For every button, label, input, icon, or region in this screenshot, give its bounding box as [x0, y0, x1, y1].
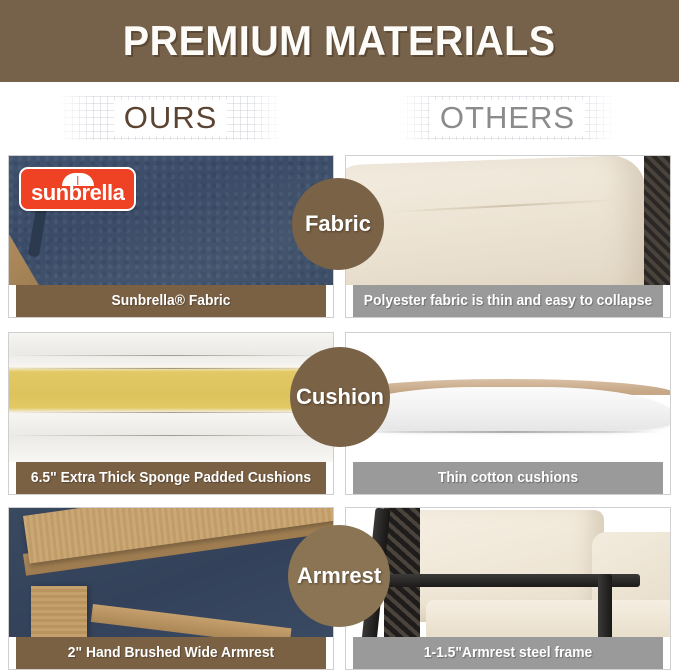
photo-sponge-cushion	[9, 333, 333, 462]
page-title: PREMIUM MATERIALS	[123, 17, 556, 65]
panel-others-cushion: Thin cotton cushions	[345, 332, 671, 495]
fiber-line	[9, 435, 333, 437]
photo-polyester-fabric	[346, 156, 670, 285]
steel-frame-art	[346, 508, 670, 637]
foam-cross-section	[9, 333, 333, 462]
armrest-post	[31, 586, 87, 637]
photo-wood-armrest	[9, 508, 333, 637]
panel-others-armrest: 1-1.5"Armrest steel frame	[345, 507, 671, 670]
column-header-others: OTHERS	[400, 96, 615, 140]
navy-fabric-texture: sunbrella	[9, 156, 333, 285]
caption-others-armrest: 1-1.5"Armrest steel frame	[353, 637, 663, 669]
badge-fabric: Fabric	[292, 178, 384, 270]
cushion-shape	[346, 156, 650, 285]
wood-brace	[91, 604, 292, 637]
header-bar: PREMIUM MATERIALS	[0, 0, 679, 82]
cushion-slab	[346, 387, 670, 431]
wicker-edge	[644, 156, 670, 285]
cushion-shadow-line	[352, 431, 663, 433]
umbrella-icon	[62, 173, 94, 186]
fiber-line	[9, 412, 333, 414]
caption-ours-cushion: 6.5" Extra Thick Sponge Padded Cushions	[16, 462, 326, 494]
caption-ours-fabric: Sunbrella® Fabric	[16, 285, 326, 317]
panel-ours-cushion: 6.5" Extra Thick Sponge Padded Cushions	[8, 332, 334, 495]
seat-cushion	[426, 600, 670, 637]
column-header-others-label: OTHERS	[430, 100, 585, 136]
column-header-ours-label: OURS	[114, 100, 228, 136]
polyester-cushion-art	[346, 156, 670, 285]
caption-others-fabric: Polyester fabric is thin and easy to col…	[353, 285, 663, 317]
column-labels: OURS OTHERS	[0, 82, 679, 154]
column-header-ours: OURS	[58, 96, 283, 140]
thin-cushion-art	[346, 333, 670, 462]
panel-ours-fabric: sunbrella Sunbrella® Fabric	[8, 155, 334, 318]
sunbrella-logo: sunbrella	[19, 167, 136, 211]
photo-sunbrella-fabric: sunbrella	[9, 156, 333, 285]
fiber-line	[9, 368, 333, 370]
caption-others-cushion: Thin cotton cushions	[353, 462, 663, 494]
badge-armrest: Armrest	[288, 525, 390, 627]
caption-ours-armrest: 2" Hand Brushed Wide Armrest	[16, 637, 326, 669]
panel-others-fabric: Polyester fabric is thin and easy to col…	[345, 155, 671, 318]
steel-front-leg	[598, 574, 612, 637]
wood-armrest-art	[9, 508, 333, 637]
badge-cushion: Cushion	[290, 347, 390, 447]
panel-ours-armrest: 2" Hand Brushed Wide Armrest	[8, 507, 334, 670]
photo-thin-cushion	[346, 333, 670, 462]
fiber-line	[9, 355, 333, 357]
photo-steel-armrest	[346, 508, 670, 637]
